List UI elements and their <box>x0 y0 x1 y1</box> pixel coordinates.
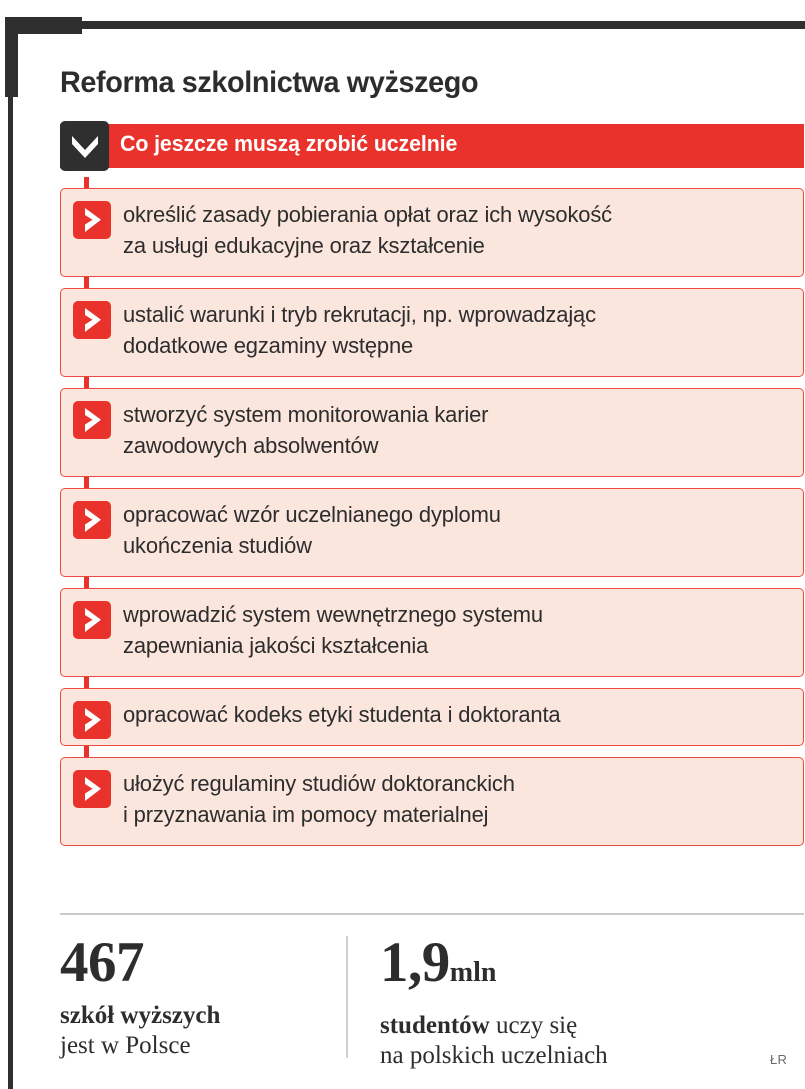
stats-divider <box>60 913 804 915</box>
item-connector <box>84 477 89 488</box>
stats-vertical-divider <box>346 936 348 1058</box>
stat-schools-number: 467 <box>60 934 320 992</box>
chevron-right-icon <box>73 770 111 808</box>
item-connector <box>84 677 89 688</box>
chevron-down-icon <box>60 121 109 171</box>
stat-schools: 467 szkół wyższych jest w Polsce <box>60 934 320 1061</box>
chevron-right-icon <box>73 601 111 639</box>
author-credit: ŁR <box>770 1052 787 1067</box>
item-connector <box>84 277 89 288</box>
list-header-label: Co jeszcze muszą zrobić uczelnie <box>120 131 457 157</box>
list-item[interactable]: opracować kodeks etyki studenta i doktor… <box>60 688 804 746</box>
stat-students-label-rest: uczy się <box>490 1012 577 1039</box>
list-item-text: wprowadzić system wewnętrznego systemu z… <box>123 599 776 661</box>
item-connector <box>84 177 89 188</box>
stat-students-sub: na polskich uczelniach <box>380 1041 800 1071</box>
list-item[interactable]: stworzyć system monitorowania karier zaw… <box>60 388 804 477</box>
stat-students: 1,9mln studentów uczy się na polskich uc… <box>380 934 800 1071</box>
frame-corner-vertical <box>5 17 18 97</box>
stat-schools-label: szkół wyższych <box>60 1001 320 1031</box>
frame-left-rule <box>8 94 13 1089</box>
stat-students-unit: mln <box>450 957 497 988</box>
stat-schools-sub: jest w Polsce <box>60 1031 320 1061</box>
list-item-text: określić zasady pobierania opłat oraz ic… <box>123 199 776 261</box>
list-item[interactable]: ułożyć regulaminy studiów doktoranckich … <box>60 757 804 846</box>
chevron-right-icon <box>73 701 111 739</box>
item-connector <box>84 377 89 388</box>
list-item-text: ułożyć regulaminy studiów doktoranckich … <box>123 768 776 830</box>
list-item-text: opracować kodeks etyki studenta i doktor… <box>123 699 776 730</box>
list-item-text: opracować wzór uczelnianego dyplomu ukoń… <box>123 499 776 561</box>
stat-schools-label-bold: szkół wyższych <box>60 1002 220 1029</box>
infographic-content: Reforma szkolnictwa wyższego Co jeszcze … <box>58 0 805 1089</box>
list-item[interactable]: określić zasady pobierania opłat oraz ic… <box>60 188 804 277</box>
stat-students-value: 1,9 <box>380 931 450 994</box>
item-connector <box>84 577 89 588</box>
stat-students-label-bold: studentów <box>380 1012 490 1039</box>
chevron-right-icon <box>73 501 111 539</box>
list-item-text: ustalić warunki i tryb rekrutacji, np. w… <box>123 299 776 361</box>
stat-students-label: studentów uczy się <box>380 1011 800 1041</box>
list-item-text: stworzyć system monitorowania karier zaw… <box>123 399 776 461</box>
stat-students-number: 1,9mln <box>380 934 800 1002</box>
list-item[interactable]: wprowadzić system wewnętrznego systemu z… <box>60 588 804 677</box>
list-item[interactable]: ustalić warunki i tryb rekrutacji, np. w… <box>60 288 804 377</box>
page-title: Reforma szkolnictwa wyższego <box>60 66 478 100</box>
chevron-right-icon <box>73 401 111 439</box>
list-item[interactable]: opracować wzór uczelnianego dyplomu ukoń… <box>60 488 804 577</box>
chevron-right-icon <box>73 301 111 339</box>
chevron-right-icon <box>73 201 111 239</box>
item-connector <box>84 746 89 757</box>
